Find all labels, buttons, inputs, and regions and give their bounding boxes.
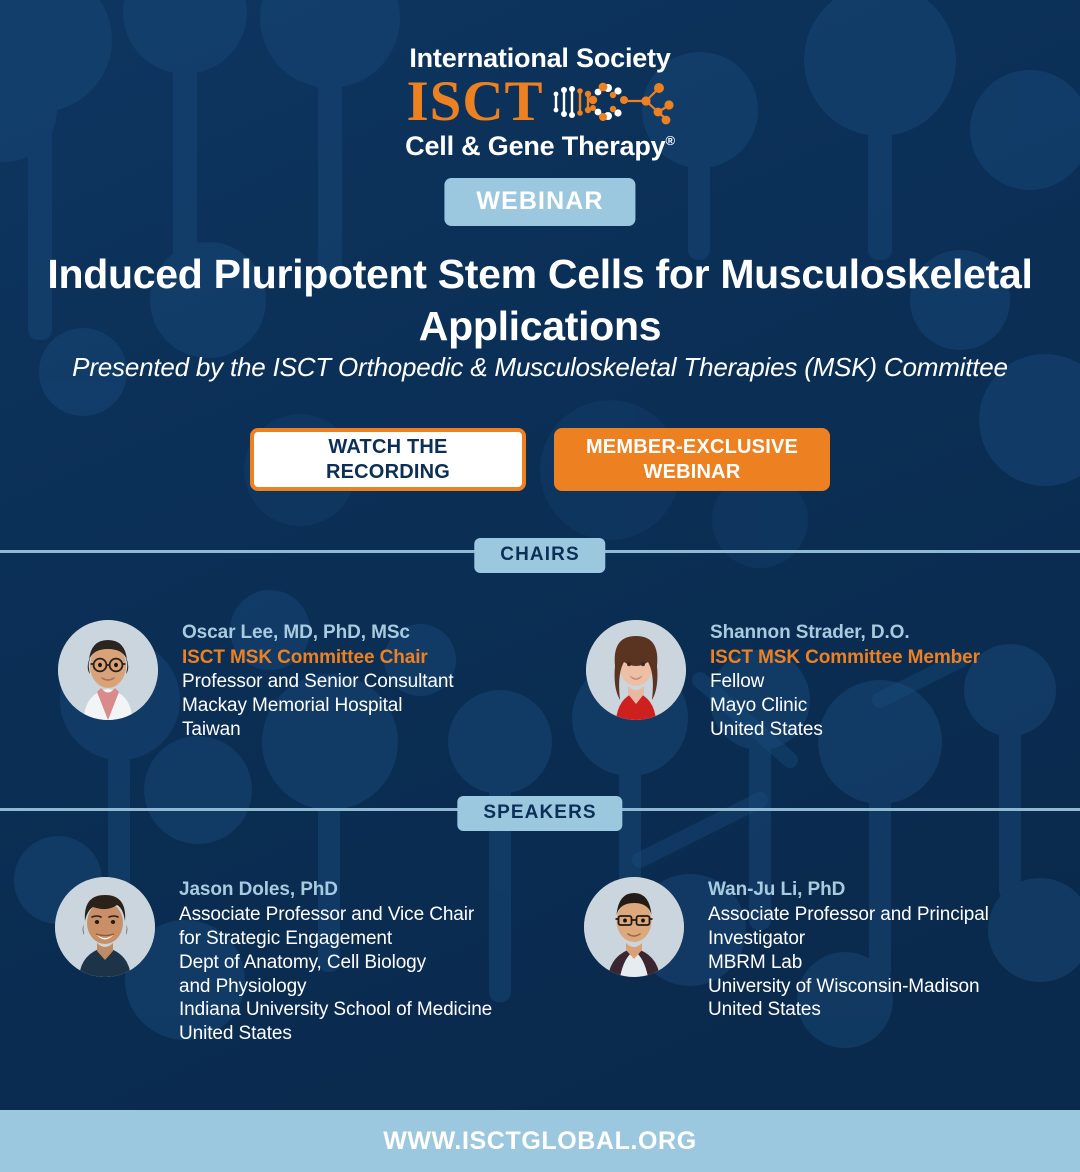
footer-bar: WWW.ISCTGLOBAL.ORG bbox=[0, 1110, 1080, 1172]
person-affiliation: Associate Professor and Principal Invest… bbox=[708, 903, 989, 1023]
avatar-jason-doles bbox=[55, 877, 155, 977]
person-role: ISCT MSK Committee Member bbox=[710, 646, 980, 671]
cta-button-row: WATCH THE RECORDING MEMBER-EXCLUSIVE WEB… bbox=[0, 428, 1080, 491]
person-text-wan-ju-li: Wan-Ju Li, PhD Associate Professor and P… bbox=[708, 877, 989, 1022]
person-text-jason-doles: Jason Doles, PhD Associate Professor and… bbox=[179, 877, 492, 1046]
person-card-jason-doles: Jason Doles, PhD Associate Professor and… bbox=[55, 877, 492, 1046]
person-card-wan-ju-li: Wan-Ju Li, PhD Associate Professor and P… bbox=[584, 877, 989, 1022]
person-affiliation: Professor and Senior Consultant Mackay M… bbox=[182, 670, 454, 742]
person-name: Wan-Ju Li, PhD bbox=[708, 878, 989, 903]
person-name: Jason Doles, PhD bbox=[179, 878, 492, 903]
webinar-poster: International Society ISCT bbox=[0, 0, 1080, 1172]
registered-mark: ® bbox=[665, 133, 674, 148]
dna-helix-icon bbox=[546, 78, 674, 126]
person-name: Oscar Lee, MD, PhD, MSc bbox=[182, 621, 454, 646]
logo-acronym: ISCT bbox=[406, 73, 543, 130]
person-text-shannon-strader: Shannon Strader, D.O. ISCT MSK Committee… bbox=[710, 620, 980, 742]
page-subtitle: Presented by the ISCT Orthopedic & Muscu… bbox=[10, 352, 1070, 383]
person-name: Shannon Strader, D.O. bbox=[710, 621, 980, 646]
logo-line-top: International Society bbox=[0, 44, 1080, 72]
portrait-shannon-strader-image bbox=[586, 620, 686, 720]
logo-bottom-text: Cell & Gene Therapy bbox=[405, 131, 665, 161]
footer-url[interactable]: WWW.ISCTGLOBAL.ORG bbox=[383, 1127, 697, 1156]
section-badge-chairs: CHAIRS bbox=[474, 538, 605, 573]
avatar-shannon-strader bbox=[586, 620, 686, 720]
person-role: ISCT MSK Committee Chair bbox=[182, 646, 454, 671]
portrait-wan-ju-li-image bbox=[584, 877, 684, 977]
avatar-wan-ju-li bbox=[584, 877, 684, 977]
watch-the-recording-button[interactable]: WATCH THE RECORDING bbox=[250, 428, 526, 491]
section-badge-speakers: SPEAKERS bbox=[457, 796, 622, 831]
portrait-oscar-lee-image bbox=[58, 620, 158, 720]
member-exclusive-webinar-button[interactable]: MEMBER-EXCLUSIVE WEBINAR bbox=[554, 428, 830, 491]
page-title: Induced Pluripotent Stem Cells for Muscu… bbox=[40, 248, 1040, 353]
person-affiliation: Associate Professor and Vice Chair for S… bbox=[179, 903, 492, 1047]
logo-line-bottom: Cell & Gene Therapy® bbox=[0, 132, 1080, 160]
logo-acronym-row: ISCT bbox=[0, 73, 1080, 130]
isct-logo: International Society ISCT bbox=[0, 44, 1080, 161]
avatar-oscar-lee bbox=[58, 620, 158, 720]
person-affiliation: Fellow Mayo Clinic United States bbox=[710, 670, 980, 742]
person-text-oscar-lee: Oscar Lee, MD, PhD, MSc ISCT MSK Committ… bbox=[182, 620, 454, 742]
person-card-shannon-strader: Shannon Strader, D.O. ISCT MSK Committee… bbox=[586, 620, 980, 742]
webinar-badge: WEBINAR bbox=[444, 178, 635, 226]
person-card-oscar-lee: Oscar Lee, MD, PhD, MSc ISCT MSK Committ… bbox=[58, 620, 454, 742]
portrait-jason-doles-image bbox=[55, 877, 155, 977]
